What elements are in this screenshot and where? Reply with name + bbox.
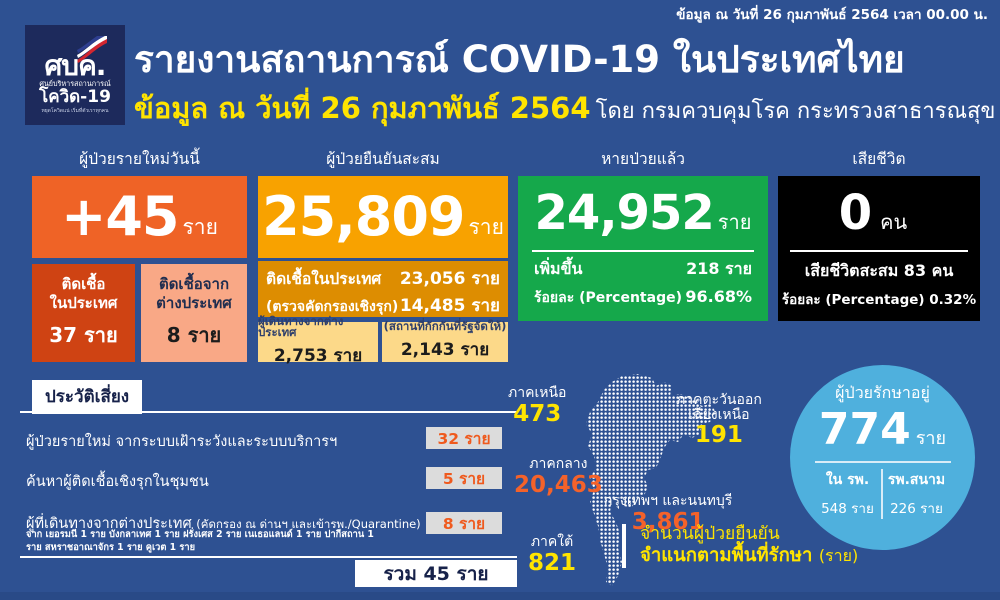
cumulative-unit: ราย (469, 211, 504, 244)
under-treatment-unit: ราย (916, 423, 946, 452)
hospital-value: 548 ราย (815, 497, 881, 519)
field-hospital-value: 226 ราย (883, 497, 951, 519)
region-south: ภาคใต้ 821 (528, 535, 576, 575)
region-north: ภาคเหนือ 473 (508, 386, 566, 426)
deaths-percentage: ร้อยละ (Percentage) 0.32% (778, 288, 980, 310)
region-central-value: 20,463 (514, 473, 603, 497)
deaths-divider (790, 250, 968, 252)
imported-value: 8 ราย (167, 319, 222, 351)
region-north-value: 473 (508, 402, 566, 426)
risk-row-country-breakdown: จาก เยอรมนี 1 ราย บังกลาเทศ 1 ราย ฝรั่งเ… (26, 529, 386, 555)
risk-total-box: รวม 45 ราย (355, 560, 517, 587)
field-hospital-label: รพ.สนาม (883, 469, 951, 491)
page-subtitle: ข้อมูล ณ วันที่ 26 กุมภาพันธ์ 2564 โดย ก… (134, 94, 995, 123)
under-treatment-value-row: 774 ราย (819, 408, 946, 452)
cumulative-row-value: 14,485 ราย (400, 292, 500, 319)
region-northeast-value: 191 (676, 423, 762, 447)
region-bangkok-label: กรุงเทพฯ และนนทบุรี (604, 494, 732, 509)
region-northeast-label-2: เฉียงเหนือ (676, 408, 762, 423)
risk-badge-surveillance: 32 ราย (426, 427, 502, 449)
card-heading-new-cases: ผู้ป่วยรายใหม่วันนี้ (32, 146, 247, 171)
risk-badge-value: 8 ราย (443, 511, 485, 536)
card-heading-cumulative: ผู้ป่วยยืนยันสะสม (258, 146, 508, 171)
map-caption-line2-text: จำแนกตามพื้นที่รักษา (640, 545, 812, 566)
recovered-unit: ราย (718, 206, 752, 238)
recovered-row: เพิ่มขึ้น 218 ราย (518, 257, 768, 282)
recovered-increase-value: 218 ราย (686, 257, 752, 282)
imported-label-line1: ติดเชื้อจาก (159, 275, 229, 293)
infographic-root: ข้อมูล ณ วันที่ 26 กุมภาพันธ์ 2564 เวลา … (0, 0, 1000, 600)
cumulative-breakdown: ติดเชื้อในประเทศ 23,056 ราย (ตรวจคัดกรอง… (258, 261, 508, 317)
risk-row-text: ผู้ป่วยรายใหม่ จากระบบเฝ้าระวังและระบบบร… (26, 430, 337, 453)
region-northeast-label: ภาคตะวันออก (676, 393, 762, 408)
deaths-card: 0 คน เสียชีวิตสะสม 83 คน ร้อยละ (Percent… (778, 176, 980, 321)
deaths-cumulative: เสียชีวิตสะสม 83 คน (778, 259, 980, 284)
card-heading-deaths: เสียชีวิต (778, 146, 980, 171)
cumulative-value: 25,809 (262, 190, 464, 244)
cumulative-quarantine-value: 2,143 ราย (401, 336, 489, 363)
under-treatment-divider (815, 461, 951, 463)
map-caption-unit: (ราย) (819, 546, 858, 565)
risk-badge-imported: 8 ราย (426, 512, 502, 534)
risk-history-tab-label: ประวัติเสี่ยง (45, 387, 129, 407)
deaths-value: 0 (839, 189, 872, 237)
cumulative-row: ติดเชื้อในประเทศ 23,056 ราย (266, 265, 500, 292)
map-caption: จำนวนผู้ป่วยยืนยัน จำแนกตามพื้นที่รักษา … (622, 524, 858, 568)
recovered-percent-value: 96.68% (685, 287, 752, 306)
cumulative-imported-cell: ผู้เดินทางจากต่างประเทศ 2,753 ราย (258, 322, 378, 362)
risk-badge-value: 32 ราย (437, 426, 490, 451)
recovered-divider (532, 250, 754, 252)
under-treatment-circle: ผู้ป่วยรักษาอยู่ 774 ราย ใน รพ. 548 ราย … (790, 365, 975, 550)
recovered-value: 24,952 (535, 189, 714, 237)
risk-history-tab: ประวัติเสี่ยง (32, 380, 142, 414)
recovered-card: 24,952 ราย เพิ่มขึ้น 218 ราย ร้อยละ (Per… (518, 176, 768, 321)
domestic-value: 37 ราย (49, 319, 118, 351)
page-subtitle-date: ข้อมูล ณ วันที่ 26 กุมภาพันธ์ 2564 (134, 91, 591, 125)
new-cases-unit: ราย (183, 211, 218, 244)
deaths-value-row: 0 คน (778, 176, 980, 250)
region-central-label: ภาคกลาง (514, 457, 603, 472)
page-title: รายงานสถานการณ์ COVID-19 ในประเทศไทย (134, 30, 905, 89)
recovered-percent-label: ร้อยละ (Percentage) (534, 287, 682, 309)
risk-badge-active-case-finding: 5 ราย (426, 467, 502, 489)
new-cases-value: +45 (61, 190, 178, 244)
deaths-unit: คน (880, 206, 907, 238)
data-timestamp: ข้อมูล ณ วันที่ 26 กุมภาพันธ์ 2564 เวลา … (676, 3, 988, 25)
page-subtitle-source: โดย กรมควบคุมโรค กระทรวงสาธารณสุข (596, 99, 996, 124)
risk-row-text: ค้นหาผู้ติดเชื้อเชิงรุกในชุมชน (26, 470, 209, 493)
under-treatment-cells: ใน รพ. 548 ราย รพ.สนาม 226 ราย (815, 469, 951, 519)
region-central: ภาคกลาง 20,463 (514, 457, 603, 497)
new-cases-imported-cell: ติดเชื้อจาก ต่างประเทศ 8 ราย (141, 264, 247, 362)
risk-history-rule (20, 411, 517, 413)
cumulative-quarantine-cell: (สถานที่กักกันที่รัฐจัดให้) 2,143 ราย (382, 322, 508, 362)
under-treatment-field-hospital-cell: รพ.สนาม 226 ราย (883, 469, 951, 519)
cssa-logo: ศบค. ศูนย์บริหารสถานการณ์ โควิด-19 หยุดโ… (25, 25, 125, 125)
logo-tagline: หยุดโควิดแน่ เริ่มที่ตัวเราทุกคน (41, 108, 108, 114)
region-northeast: ภาคตะวันออก เฉียงเหนือ 191 (676, 393, 762, 448)
recovered-increase-label: เพิ่มขึ้น (534, 257, 582, 282)
region-north-label: ภาคเหนือ (508, 386, 566, 401)
risk-badge-value: 5 ราย (443, 466, 485, 491)
under-treatment-heading: ผู้ป่วยรักษาอยู่ (835, 381, 930, 406)
cumulative-quarantine-label: (สถานที่กักกันที่รัฐจัดให้) (384, 321, 507, 333)
hospital-label: ใน รพ. (815, 469, 881, 491)
logo-acronym: ศบค. (45, 52, 106, 80)
logo-covid-text: โควิด-19 (39, 88, 111, 107)
region-south-value: 821 (528, 551, 576, 575)
cumulative-row-value: 23,056 ราย (400, 265, 500, 292)
footer-bar (0, 592, 1000, 600)
domestic-label-line2: ในประเทศ (50, 294, 118, 312)
cumulative-value-card: 25,809 ราย (258, 176, 508, 258)
recovered-row: ร้อยละ (Percentage) 96.68% (518, 287, 768, 309)
region-south-label: ภาคใต้ (528, 535, 576, 550)
imported-label-line2: ต่างประเทศ (156, 294, 232, 312)
cumulative-row-label: ติดเชื้อในประเทศ (266, 266, 381, 291)
cumulative-imported-label: ผู้เดินทางจากต่างประเทศ (258, 316, 378, 339)
card-heading-recovered: หายป่วยแล้ว (518, 146, 768, 171)
map-caption-line2: จำแนกตามพื้นที่รักษา (ราย) (640, 545, 858, 568)
under-treatment-hospital-cell: ใน รพ. 548 ราย (815, 469, 883, 519)
cumulative-imported-value: 2,753 ราย (274, 342, 362, 369)
domestic-label-line1: ติดเชื้อ (62, 275, 106, 293)
new-cases-value-card: +45 ราย (32, 176, 247, 258)
recovered-value-row: 24,952 ราย (518, 176, 768, 250)
risk-total-value: รวม 45 ราย (383, 559, 488, 589)
under-treatment-value: 774 (819, 408, 911, 452)
new-cases-domestic-cell: ติดเชื้อ ในประเทศ 37 ราย (32, 264, 135, 362)
